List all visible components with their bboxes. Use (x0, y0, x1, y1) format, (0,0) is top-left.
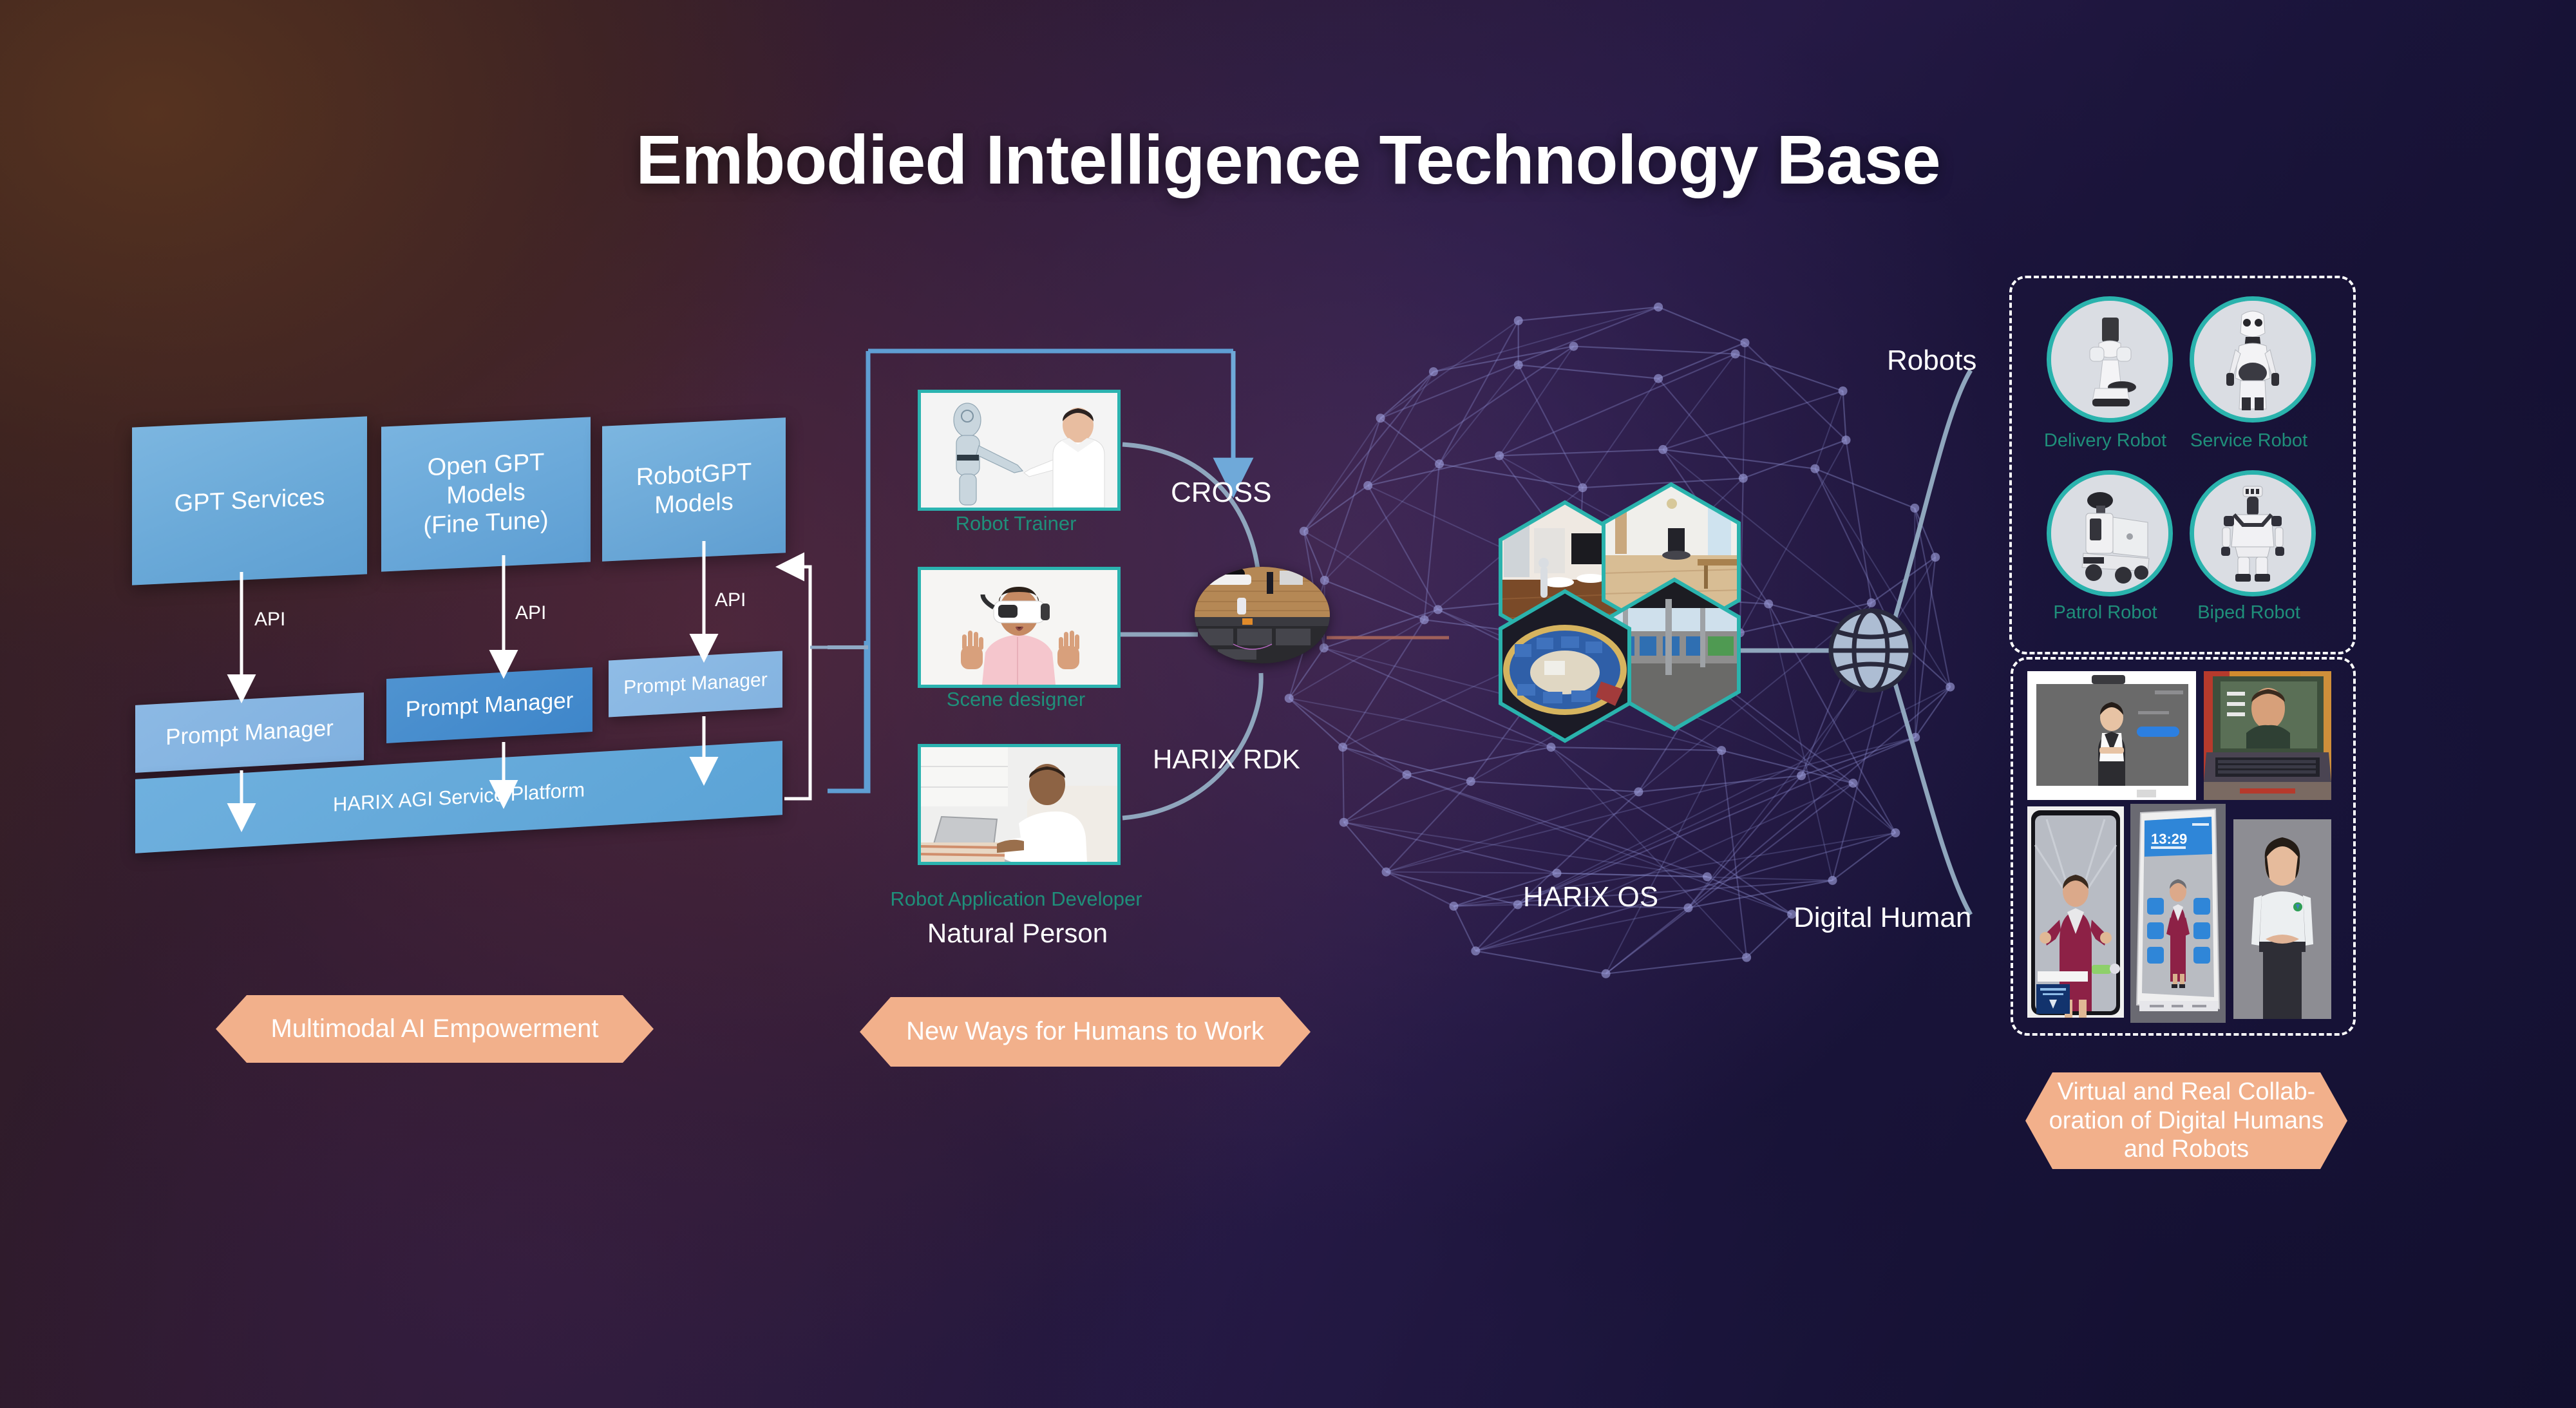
digital-human-tile-standing-kiosk[interactable]: 13:29 (2130, 804, 2226, 1023)
gpt-services-box[interactable]: GPT Services (132, 416, 367, 585)
person-card-caption-1: Robot Trainer (918, 512, 1114, 535)
open-gpt-models-box[interactable]: Open GPTModels(Fine Tune) (381, 417, 591, 571)
digital-human-3d-avatar (2233, 819, 2331, 1019)
digital-human-label: Digital Human (1794, 902, 1971, 934)
hex-simulated-restaurant (1501, 502, 1629, 652)
person-card-scene-designer[interactable] (918, 567, 1121, 688)
harix-rdk-thumbnail[interactable] (1195, 567, 1330, 663)
robot-label-service: Service Robot (2175, 430, 2322, 452)
diagram-canvas: Embodied Intelligence Technology Base GP… (0, 0, 2576, 1408)
kiosk-avatar (2098, 702, 2125, 786)
robot-thumb-biped[interactable] (2190, 470, 2316, 596)
banner-1-text: Multimodal AI Empowerment (270, 1014, 598, 1044)
prompt-manager-1[interactable]: Prompt Manager (135, 692, 364, 773)
api-label-2: API (515, 602, 546, 624)
person-card-caption-3: Robot Application Developer (887, 888, 1145, 911)
prompt-manager-2[interactable]: Prompt Manager (386, 667, 592, 743)
robotgpt-models-box[interactable]: RobotGPTModels (602, 417, 786, 561)
robot-thumb-delivery[interactable] (2047, 296, 2173, 423)
robot-trainer-photo (921, 393, 1117, 508)
digital-human-tile-kiosk[interactable] (2027, 671, 2196, 800)
service-robot-photo (2194, 301, 2311, 418)
prompt-manager-3-label: Prompt Manager (623, 669, 767, 699)
robot-thumb-patrol[interactable] (2047, 470, 2173, 596)
vr-scene-designer-photo (921, 570, 1117, 685)
banner-virtual-real-collaboration[interactable]: Virtual and Real Collab-oration of Digit… (2025, 1072, 2347, 1169)
api-label-3: API (715, 589, 746, 611)
gpt-services-label: GPT Services (166, 482, 334, 519)
hex-simulated-office (1604, 484, 1739, 639)
person-card-robot-trainer[interactable] (918, 390, 1121, 511)
page-title: Embodied Intelligence Technology Base (0, 119, 2576, 200)
digital-human-standing-kiosk: 13:29 (2130, 804, 2226, 1023)
harix-agi-service-platform-label: HARIX AGI Service Platform (333, 778, 585, 816)
patrol-robot-photo (2051, 475, 2168, 592)
globe-icon (1826, 605, 1916, 696)
digital-human-laptop-video (2204, 671, 2331, 800)
developer-laptop-photo (921, 747, 1117, 862)
api-label-1: API (254, 609, 285, 631)
cross-label: CROSS (1171, 477, 1271, 509)
delivery-robot-photo (2051, 301, 2168, 418)
feedback-loop-arrow (784, 567, 810, 799)
robot-thumb-service[interactable] (2190, 296, 2316, 423)
digital-human-tile-phone[interactable] (2027, 806, 2124, 1018)
banner-2-text: New Ways for Humans to Work (906, 1016, 1264, 1047)
hex-simulated-stadium (1501, 591, 1629, 741)
banner-3-text: Virtual and Real Collab-oration of Digit… (2049, 1078, 2324, 1164)
robot-label-biped: Biped Robot (2175, 602, 2322, 623)
banner-new-ways-to-work[interactable]: New Ways for Humans to Work (860, 997, 1311, 1067)
robot-label-delivery: Delivery Robot (2032, 430, 2179, 452)
digital-human-tile-laptop[interactable] (2204, 671, 2331, 800)
harix-rdk-label: HARIX RDK (1153, 744, 1300, 775)
prompt-manager-3[interactable]: Prompt Manager (609, 651, 782, 717)
prompt-manager-2-label: Prompt Manager (406, 688, 574, 723)
digital-human-tile-avatar[interactable] (2233, 819, 2331, 1019)
person-card-app-developer[interactable] (918, 744, 1121, 865)
robotgpt-models-label: RobotGPTModels (627, 457, 761, 521)
hex-simulated-retail (1610, 580, 1739, 729)
harix-os-label: HARIX OS (1410, 881, 1771, 913)
harix-rdk-editor-thumbnail (1195, 567, 1330, 663)
open-gpt-models-label: Open GPTModels(Fine Tune) (414, 448, 557, 541)
banner-multimodal-ai[interactable]: Multimodal AI Empowerment (216, 995, 654, 1063)
digital-human-kiosk-screen (2027, 671, 2196, 800)
natural-person-label: Natural Person (889, 918, 1146, 949)
robots-label: Robots (1887, 345, 1976, 377)
biped-robot-photo (2194, 475, 2311, 592)
robot-label-patrol: Patrol Robot (2032, 602, 2179, 623)
digital-human-phone-avatar (2027, 806, 2124, 1018)
svg-text:13:29: 13:29 (2151, 831, 2187, 847)
prompt-manager-1-label: Prompt Manager (166, 715, 334, 750)
person-card-caption-2: Scene designer (918, 688, 1114, 711)
